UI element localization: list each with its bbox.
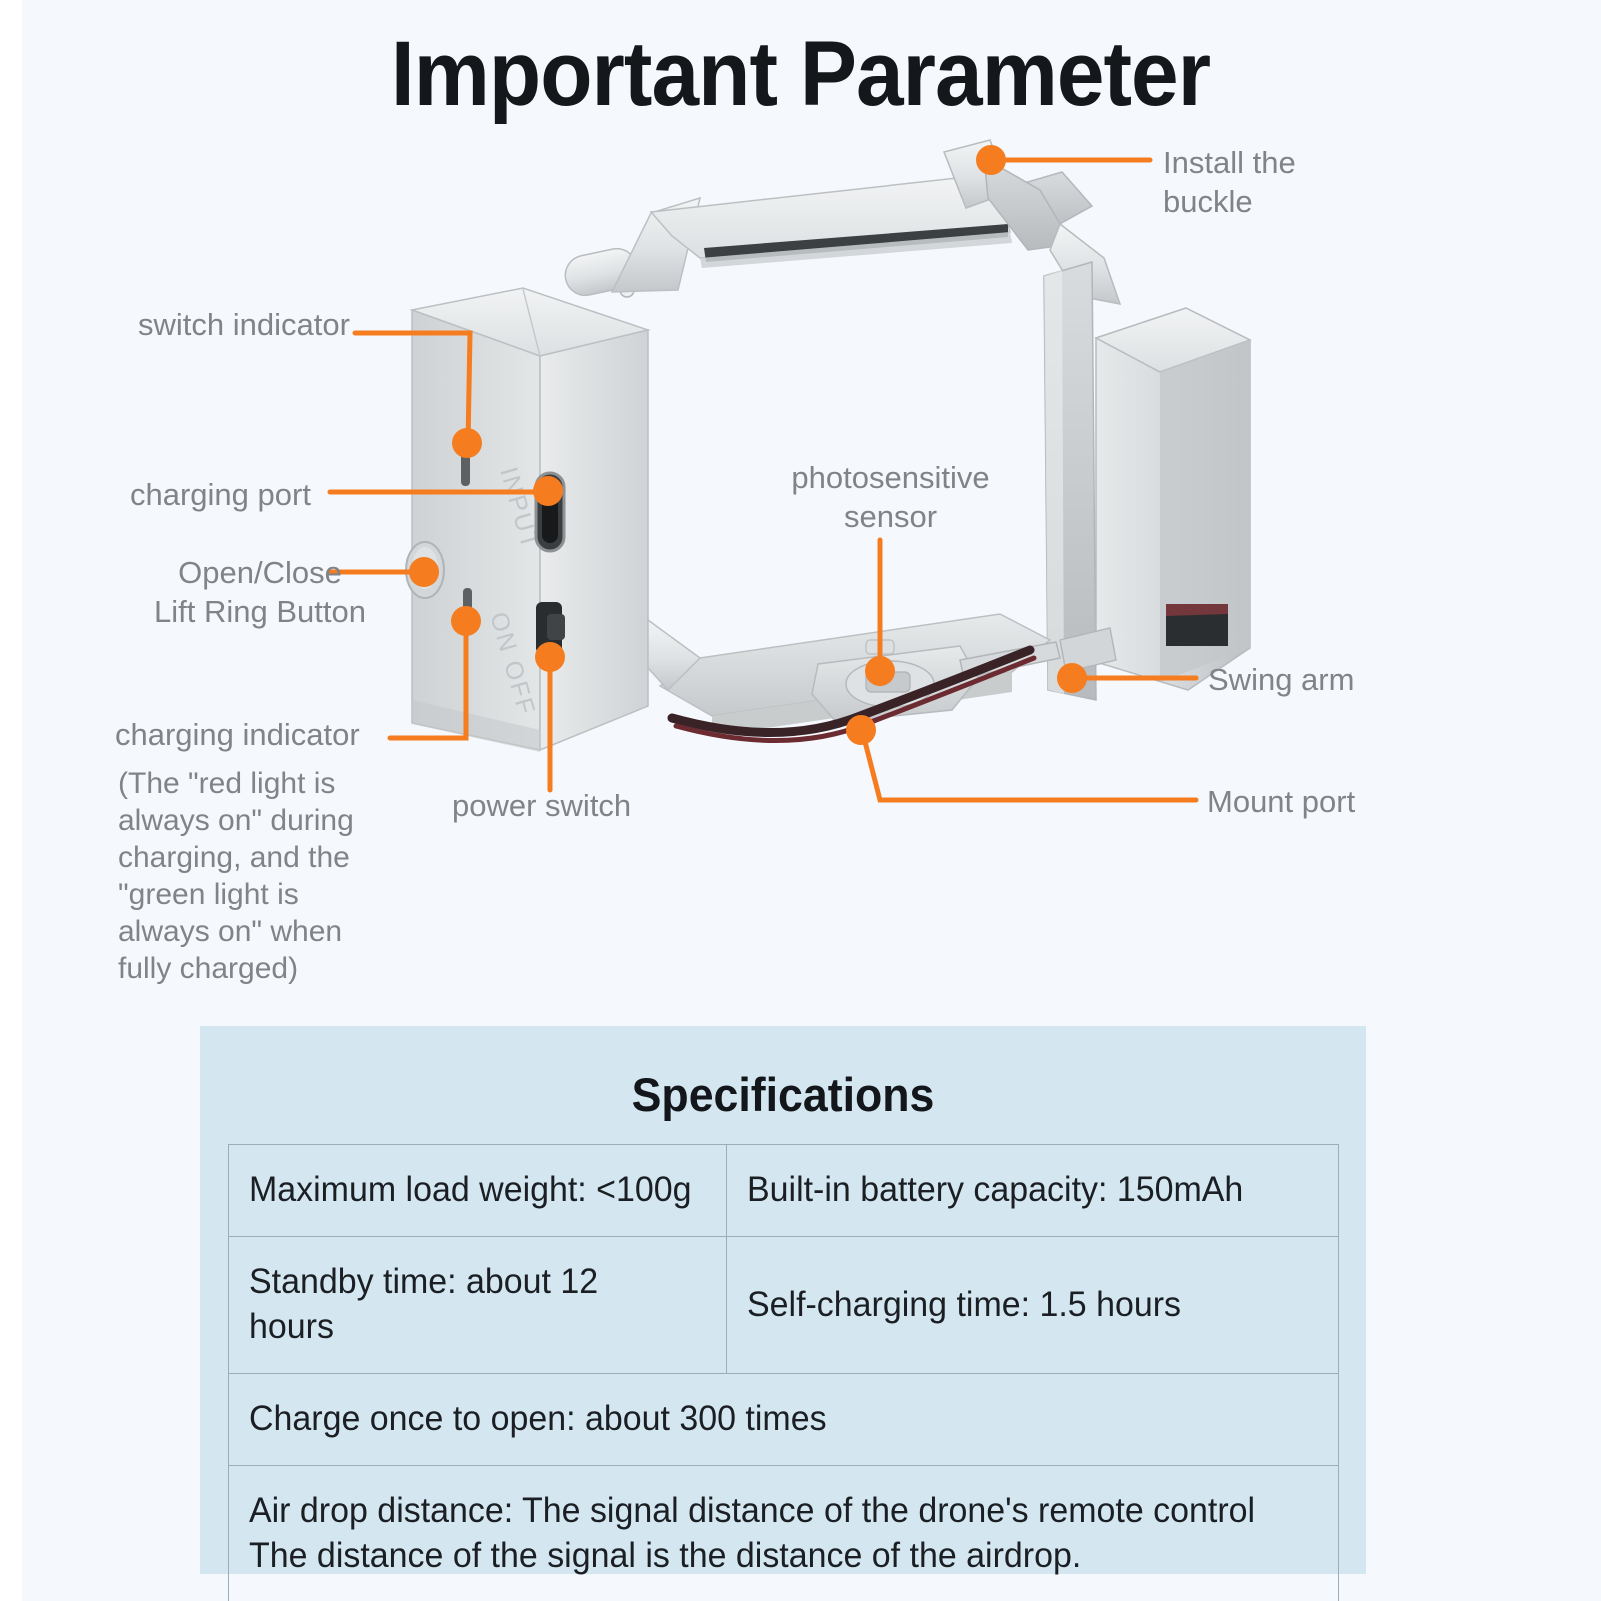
spec-cell-max-load: Maximum load weight: <100g [229, 1145, 727, 1237]
callout-charging-port: charging port [130, 475, 430, 514]
dot-charging-port [533, 476, 563, 506]
dot-power-switch [535, 642, 565, 672]
spec-cell-open-times: Charge once to open: about 300 times [229, 1374, 1339, 1466]
callout-swing-arm: Swing arm [1208, 660, 1538, 699]
callout-install-buckle: Install the buckle [1163, 143, 1463, 221]
infographic-page: Important Parameter [0, 0, 1601, 1601]
spec-cell-battery: Built-in battery capacity: 150mAh [727, 1145, 1339, 1237]
callout-mount-port: Mount port [1207, 782, 1537, 821]
dot-mount-port [846, 715, 876, 745]
spec-cell-air-drop-distance: Air drop distance: The signal distance o… [229, 1466, 1339, 1601]
callout-charging-indicator: charging indicator [115, 715, 485, 754]
table-row: Charge once to open: about 300 times [229, 1374, 1339, 1466]
dot-switch-indicator [452, 428, 482, 458]
callout-photosensitive-sensor: photosensitive sensor [758, 458, 1023, 536]
specifications-panel: Specifications Maximum load weight: <100… [200, 1026, 1366, 1574]
dot-photosensitive-sensor [865, 656, 895, 686]
specifications-table: Maximum load weight: <100g Built-in batt… [228, 1144, 1339, 1601]
table-row: Maximum load weight: <100g Built-in batt… [229, 1145, 1339, 1237]
callout-power-switch: power switch [452, 786, 782, 825]
table-row: Standby time: about 12 hours Self-chargi… [229, 1237, 1339, 1374]
spec-cell-standby-time: Standby time: about 12 hours [229, 1237, 727, 1374]
dot-charging-indicator [451, 606, 481, 636]
callout-dots [409, 145, 1087, 745]
callout-open-close-button: Open/Close Lift Ring Button [95, 553, 425, 631]
callout-switch-indicator: switch indicator [138, 305, 468, 344]
callout-charging-note: (The "red light is always on" during cha… [118, 765, 418, 987]
dot-install-buckle [976, 145, 1006, 175]
table-row: Air drop distance: The signal distance o… [229, 1466, 1339, 1601]
spec-cell-charging-time: Self-charging time: 1.5 hours [727, 1237, 1339, 1374]
dot-swing-arm [1057, 663, 1087, 693]
specifications-heading: Specifications [229, 1068, 1337, 1122]
